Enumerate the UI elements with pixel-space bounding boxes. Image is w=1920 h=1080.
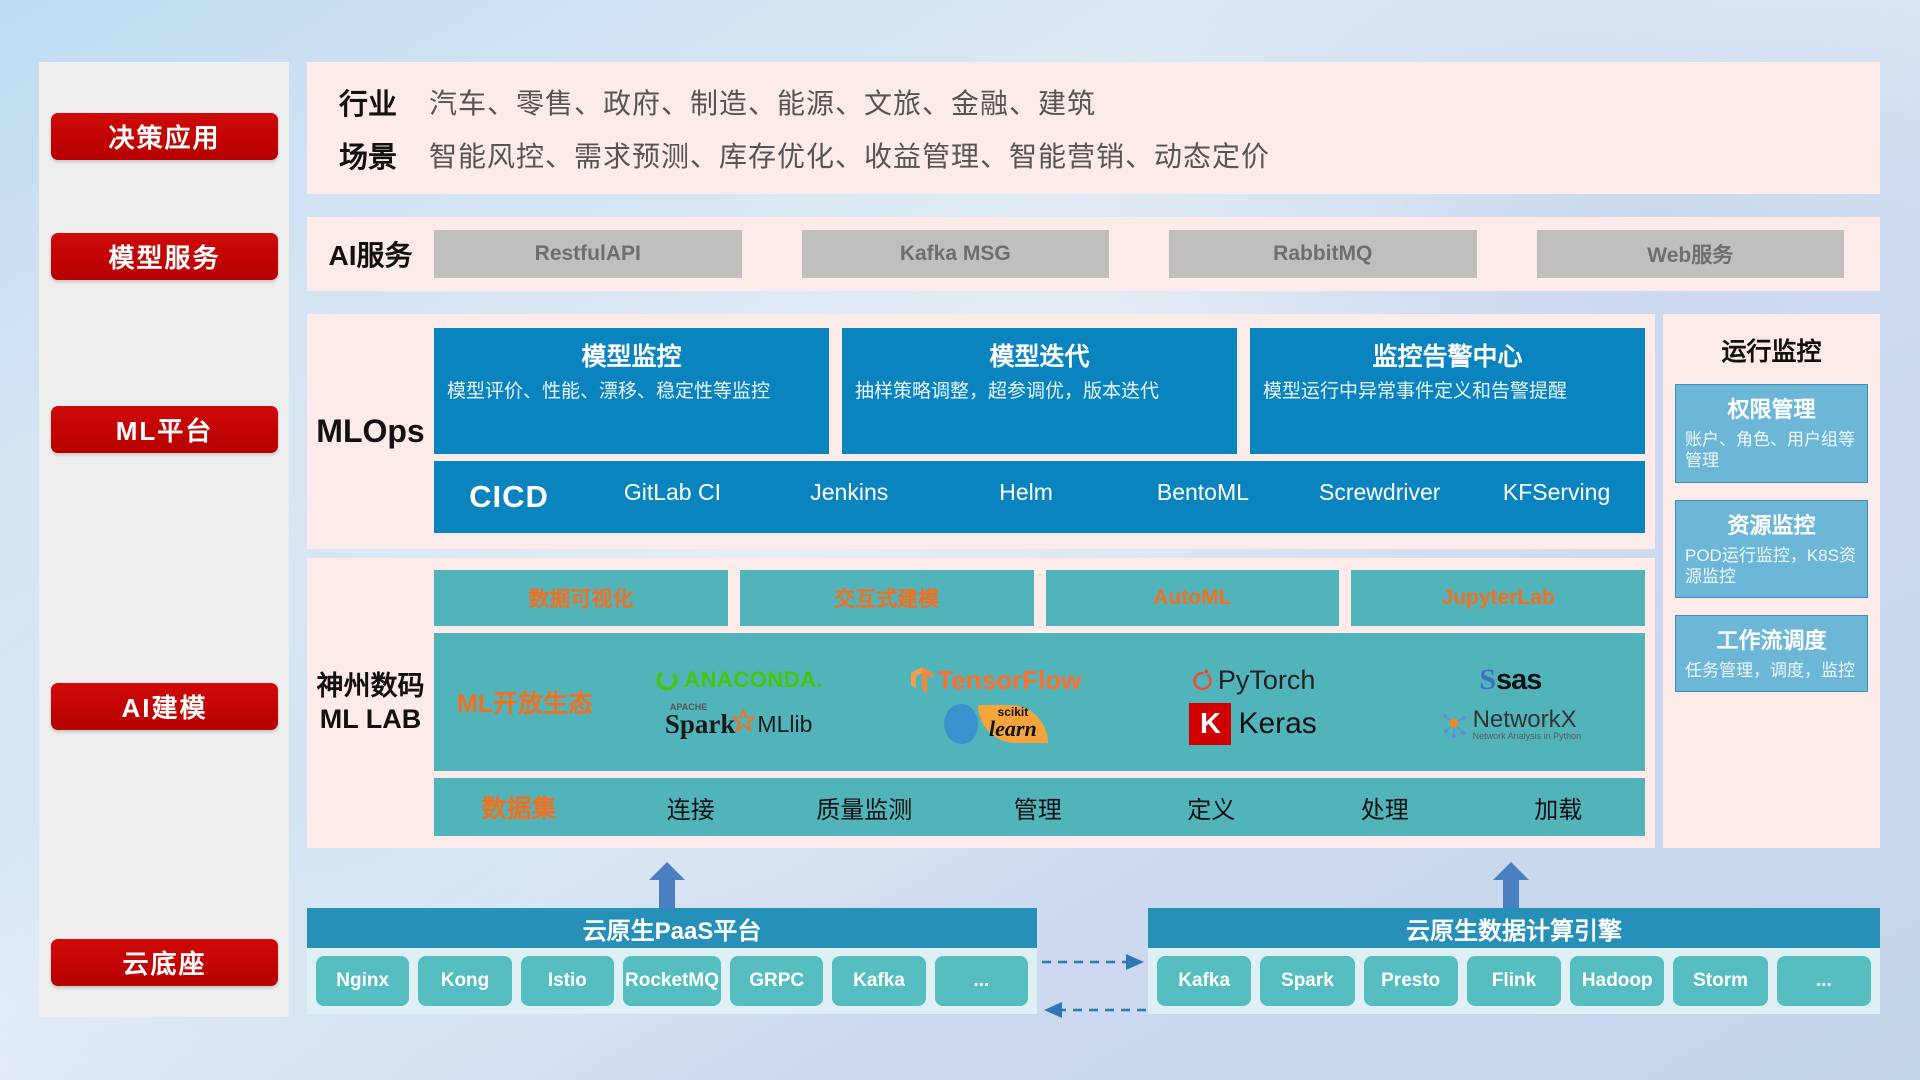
scikit-learn-wordmark: scikit learn: [978, 705, 1048, 743]
bidirectional-connector: [1040, 948, 1148, 1024]
tool-chip-data-visualization[interactable]: 数据可视化: [434, 570, 728, 626]
cloud-chip-kong[interactable]: Kong: [418, 956, 511, 1006]
scikit-blob-icon: [944, 704, 978, 744]
cicd-item-screwdriver[interactable]: Screwdriver: [1291, 480, 1468, 504]
cicd-item-bentoml[interactable]: BentoML: [1114, 480, 1291, 504]
keras-logo: K Keras: [1189, 703, 1316, 745]
industry-values: 汽车、零售、政府、制造、能源、文旅、金融、建筑: [429, 82, 1096, 122]
card-title: 权限管理: [1685, 392, 1858, 424]
card-title: 工作流调度: [1685, 623, 1858, 655]
monitor-card-workflow[interactable]: 工作流调度 任务管理，调度，监控: [1675, 615, 1868, 692]
cicd-bar: CICD GitLab CI Jenkins Helm BentoML Scre…: [434, 461, 1645, 533]
compute-chip-storm[interactable]: Storm: [1673, 956, 1767, 1006]
spark-star-icon: [732, 709, 755, 732]
ml-ecosystem-row: ML开放生态 ANACONDA.: [434, 633, 1645, 772]
card-desc: 模型评价、性能、漂移、稳定性等监控: [447, 380, 816, 405]
tool-chip-automl[interactable]: AutoML: [1046, 570, 1340, 626]
industry-scenario-panel: 行业 汽车、零售、政府、制造、能源、文旅、金融、建筑 场景 智能风控、需求预测、…: [307, 62, 1880, 194]
networkx-icon: [1440, 709, 1470, 739]
scenario-row: 场景 智能风控、需求预测、库存优化、收益管理、智能营销、动态定价: [307, 131, 1880, 178]
scenario-values: 智能风控、需求预测、库存优化、收益管理、智能营销、动态定价: [429, 135, 1270, 175]
sas-logo: S sas: [1479, 659, 1541, 701]
mlops-card-list: 模型监控 模型评价、性能、漂移、稳定性等监控 模型迭代 抽样策略调整，超参调优，…: [434, 328, 1645, 454]
card-title: 模型监控: [447, 337, 816, 373]
runtime-monitor-panel: 运行监控 权限管理 账户、角色、用户组等管理 资源监控 POD运行监控，K8S资…: [1663, 314, 1880, 848]
cloud-compute-chips: Kafka Spark Presto Flink Hadoop Storm ..…: [1148, 948, 1880, 1014]
industry-label: 行业: [307, 81, 429, 123]
mlops-label: MLOps: [307, 314, 434, 549]
pytorch-wordmark: PyTorch: [1218, 665, 1316, 696]
cloud-compute-title: 云原生数据计算引擎: [1148, 908, 1880, 948]
card-title: 监控告警中心: [1263, 337, 1632, 373]
dataset-row: 数据集 连接 质量监测 管理 定义 处理 加载: [434, 778, 1645, 836]
card-desc: POD运行监控，K8S资源监控: [1685, 545, 1858, 588]
monitor-card-resource[interactable]: 资源监控 POD运行监控，K8S资源监控: [1675, 500, 1868, 599]
compute-chip-hadoop[interactable]: Hadoop: [1570, 956, 1664, 1006]
ai-service-label: AI服务: [307, 234, 434, 274]
mlops-card-alert-center[interactable]: 监控告警中心 模型运行中异常事件定义和告警提醒: [1250, 328, 1645, 454]
tensorflow-icon: [910, 666, 934, 694]
card-desc: 模型运行中异常事件定义和告警提醒: [1263, 380, 1632, 405]
cloud-chip-nginx[interactable]: Nginx: [316, 956, 409, 1006]
ai-service-chip-kafka-msg[interactable]: Kafka MSG: [802, 230, 1110, 278]
tensorflow-wordmark: TensorFlow: [937, 665, 1081, 696]
ml-lab-label: 神州数码 ML LAB: [307, 558, 434, 848]
compute-chip-flink[interactable]: Flink: [1467, 956, 1561, 1006]
tensorflow-logo: TensorFlow: [910, 659, 1081, 701]
mllib-wordmark: MLlib: [757, 711, 812, 738]
card-title: 资源监控: [1685, 508, 1858, 540]
dataset-item-load[interactable]: 加载: [1472, 790, 1646, 825]
cicd-item-kfserving[interactable]: KFServing: [1468, 480, 1645, 504]
ai-modeling-content: 数据可视化 交互式建模 AutoML JupyterLab ML开放生态 ANA…: [434, 558, 1655, 848]
ai-service-chip-restfulapi[interactable]: RestfulAPI: [434, 230, 742, 278]
cloud-chip-istio[interactable]: Istio: [521, 956, 614, 1006]
ml-ecosystem-label: ML开放生态: [440, 684, 610, 720]
tool-chip-interactive-modeling[interactable]: 交互式建模: [740, 570, 1034, 626]
arrow-up-paas: [645, 862, 689, 898]
card-desc: 账户、角色、用户组等管理: [1685, 429, 1858, 472]
mlops-content: 模型监控 模型评价、性能、漂移、稳定性等监控 模型迭代 抽样策略调整，超参调优，…: [434, 314, 1655, 549]
anaconda-logo: ANACONDA.: [654, 659, 823, 701]
mlops-card-model-monitoring[interactable]: 模型监控 模型评价、性能、漂移、稳定性等监控: [434, 328, 829, 454]
compute-chip-more[interactable]: ...: [1777, 956, 1871, 1006]
ai-service-items: RestfulAPI Kafka MSG RabbitMQ Web服务: [434, 230, 1880, 278]
tool-chip-jupyterlab[interactable]: JupyterLab: [1351, 570, 1645, 626]
runtime-monitor-title: 运行监控: [1675, 332, 1868, 368]
networkx-tagline: Network Analysis in Python: [1473, 732, 1582, 741]
spark-wordmark: Spark: [665, 709, 736, 739]
dataset-item-define[interactable]: 定义: [1125, 790, 1299, 825]
cicd-item-jenkins[interactable]: Jenkins: [761, 480, 938, 504]
cloud-compute-panel: 云原生数据计算引擎 Kafka Spark Presto Flink Hadoo…: [1148, 908, 1880, 1014]
pytorch-icon: [1191, 667, 1214, 694]
cicd-item-gitlab-ci[interactable]: GitLab CI: [584, 480, 761, 504]
cloud-paas-title: 云原生PaaS平台: [307, 908, 1037, 948]
modeling-tool-row: 数据可视化 交互式建模 AutoML JupyterLab: [434, 570, 1645, 626]
cloud-paas-panel: 云原生PaaS平台 Nginx Kong Istio RocketMQ GRPC…: [307, 908, 1037, 1014]
keras-wordmark: Keras: [1238, 707, 1316, 741]
cicd-item-helm[interactable]: Helm: [938, 480, 1115, 504]
dataset-item-quality[interactable]: 质量监测: [778, 790, 952, 825]
stage-chip-model-service[interactable]: 模型服务: [51, 233, 278, 280]
industry-row: 行业 汽车、零售、政府、制造、能源、文旅、金融、建筑: [307, 78, 1880, 125]
scenario-label: 场景: [307, 134, 429, 176]
sas-mark-icon: S: [1479, 663, 1496, 697]
mlops-card-model-iteration[interactable]: 模型迭代 抽样策略调整，超参调优，版本迭代: [842, 328, 1237, 454]
stage-chip-ml-platform[interactable]: ML平台: [51, 406, 278, 453]
anaconda-wordmark: ANACONDA.: [684, 667, 823, 693]
cloud-chip-grpc[interactable]: GRPC: [730, 956, 823, 1006]
ml-ecosystem-logos: ANACONDA. TensorFlow: [610, 659, 1639, 745]
stage-chip-ai-modeling[interactable]: AI建模: [51, 683, 278, 730]
apache-sup: APACHE: [670, 702, 707, 712]
compute-chip-kafka[interactable]: Kafka: [1157, 956, 1251, 1006]
dataset-item-manage[interactable]: 管理: [951, 790, 1125, 825]
keras-mark-icon: K: [1189, 703, 1231, 745]
dataset-item-process[interactable]: 处理: [1298, 790, 1472, 825]
architecture-diagram: 决策应用 模型服务 ML平台 AI建模 云底座 行业 汽车、零售、政府、制造、能…: [0, 0, 1920, 1080]
sas-wordmark: sas: [1496, 664, 1541, 697]
stage-rail: [39, 62, 289, 1017]
spark-mllib-logo: APACHE Spark MLlib: [665, 703, 813, 745]
ai-service-chip-web[interactable]: Web服务: [1537, 230, 1845, 278]
cloud-chip-rocketmq[interactable]: RocketMQ: [623, 956, 721, 1006]
ai-modeling-panel: 神州数码 ML LAB 数据可视化 交互式建模 AutoML JupyterLa…: [307, 558, 1655, 848]
mlops-panel: MLOps 模型监控 模型评价、性能、漂移、稳定性等监控 模型迭代 抽样策略调整…: [307, 314, 1655, 549]
learn-text: learn: [989, 718, 1037, 740]
dataset-label: 数据集: [434, 789, 604, 825]
card-title: 模型迭代: [855, 337, 1224, 373]
stage-chip-decision-app[interactable]: 决策应用: [51, 113, 278, 160]
cloud-paas-chips: Nginx Kong Istio RocketMQ GRPC Kafka ...: [307, 948, 1037, 1014]
card-desc: 抽样策略调整，超参调优，版本迭代: [855, 380, 1224, 405]
card-desc: 任务管理，调度，监控: [1685, 660, 1858, 681]
pytorch-logo: PyTorch: [1191, 659, 1316, 701]
networkx-logo: NetworkX Network Analysis in Python: [1440, 703, 1582, 745]
ml-lab-line2: ML LAB: [320, 703, 422, 736]
compute-chip-presto[interactable]: Presto: [1364, 956, 1458, 1006]
arrow-up-compute: [1489, 862, 1533, 898]
ai-service-chip-rabbitmq[interactable]: RabbitMQ: [1169, 230, 1477, 278]
cloud-chip-kafka[interactable]: Kafka: [832, 956, 925, 1006]
stage-chip-cloud-base[interactable]: 云底座: [51, 939, 278, 986]
scikit-learn-logo: scikit learn: [944, 703, 1048, 745]
cloud-chip-more[interactable]: ...: [935, 956, 1028, 1006]
networkx-wordmark: NetworkX: [1473, 708, 1582, 732]
compute-chip-spark[interactable]: Spark: [1260, 956, 1354, 1006]
ai-service-panel: AI服务 RestfulAPI Kafka MSG RabbitMQ Web服务: [307, 217, 1880, 291]
cicd-label: CICD: [434, 479, 584, 515]
dataset-item-connect[interactable]: 连接: [604, 790, 778, 825]
ml-lab-line1: 神州数码: [317, 670, 425, 703]
monitor-card-permission[interactable]: 权限管理 账户、角色、用户组等管理: [1675, 384, 1868, 483]
anaconda-icon: [654, 667, 680, 693]
